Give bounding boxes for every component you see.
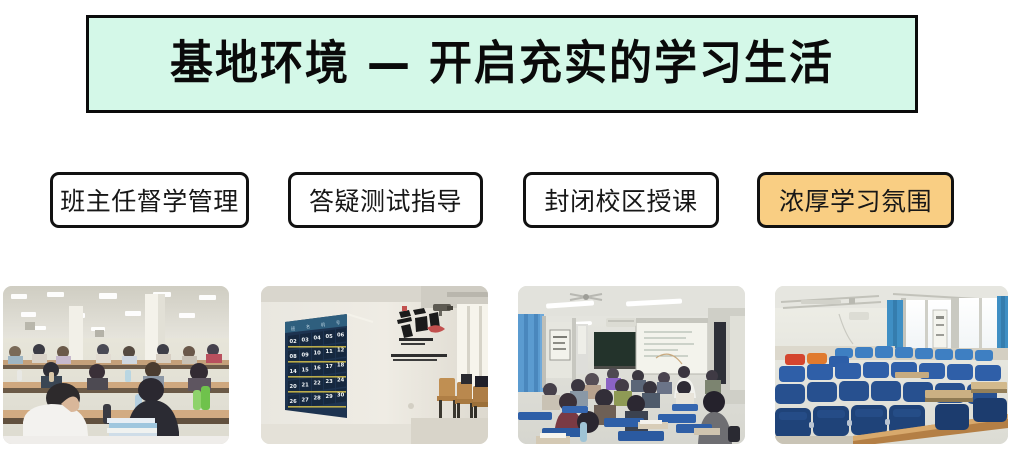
svg-text:17: 17 bbox=[326, 364, 334, 370]
svg-text:22: 22 bbox=[314, 381, 322, 387]
classroom-lecture-photo bbox=[518, 286, 745, 444]
feature-tag-row: 班主任督学管理 答疑测试指导 封闭校区授课 浓厚学习氛围 bbox=[0, 172, 1015, 230]
feature-tag-label: 答疑测试指导 bbox=[309, 182, 462, 218]
svg-text:号: 号 bbox=[336, 319, 340, 325]
page-title: 基地环境 — 开启充实的学习生活 bbox=[170, 41, 834, 87]
svg-text:11: 11 bbox=[326, 349, 334, 355]
svg-text:20: 20 bbox=[290, 384, 298, 390]
study-hall-photo bbox=[3, 286, 229, 444]
feature-tag-label: 浓厚学习氛围 bbox=[779, 182, 932, 218]
svg-text:29: 29 bbox=[326, 394, 334, 400]
svg-text:18: 18 bbox=[337, 362, 345, 368]
svg-text:班: 班 bbox=[291, 325, 295, 331]
svg-text:24: 24 bbox=[337, 377, 345, 383]
svg-text:08: 08 bbox=[290, 354, 298, 360]
feature-tag-dayi[interactable]: 答疑测试指导 bbox=[288, 172, 483, 228]
svg-text:28: 28 bbox=[314, 396, 322, 402]
feature-tag-label: 班主任督学管理 bbox=[60, 182, 239, 218]
svg-text:02: 02 bbox=[290, 339, 298, 345]
svg-text:机: 机 bbox=[321, 321, 325, 327]
empty-lecture-hall-photo bbox=[775, 286, 1008, 444]
page-title-banner: 基地环境 — 开启充实的学习生活 bbox=[86, 15, 918, 113]
svg-text:09: 09 bbox=[302, 352, 310, 358]
svg-text:21: 21 bbox=[302, 382, 310, 388]
svg-text:27: 27 bbox=[302, 397, 310, 403]
feature-tag-nonghou[interactable]: 浓厚学习氛围 bbox=[757, 172, 954, 228]
svg-text:26: 26 bbox=[290, 399, 298, 405]
svg-text:04: 04 bbox=[314, 336, 322, 342]
svg-text:05: 05 bbox=[326, 334, 334, 340]
phone-pocket-wall-photo: 班名 机号 bbox=[261, 286, 488, 444]
svg-text:16: 16 bbox=[314, 366, 322, 372]
svg-text:23: 23 bbox=[326, 379, 334, 385]
feature-tag-label: 封闭校区授课 bbox=[544, 182, 697, 218]
svg-text:15: 15 bbox=[302, 367, 310, 373]
feature-tag-fengbi[interactable]: 封闭校区授课 bbox=[523, 172, 719, 228]
svg-text:03: 03 bbox=[302, 337, 310, 343]
feature-tag-banzhuren[interactable]: 班主任督学管理 bbox=[50, 172, 249, 228]
svg-text:30: 30 bbox=[337, 392, 345, 398]
svg-text:名: 名 bbox=[306, 323, 310, 329]
svg-text:12: 12 bbox=[337, 347, 345, 353]
svg-text:06: 06 bbox=[337, 332, 345, 338]
svg-text:10: 10 bbox=[314, 351, 322, 357]
svg-text:14: 14 bbox=[290, 369, 298, 375]
campus-photo-gallery: 班名 机号 bbox=[0, 286, 1015, 444]
